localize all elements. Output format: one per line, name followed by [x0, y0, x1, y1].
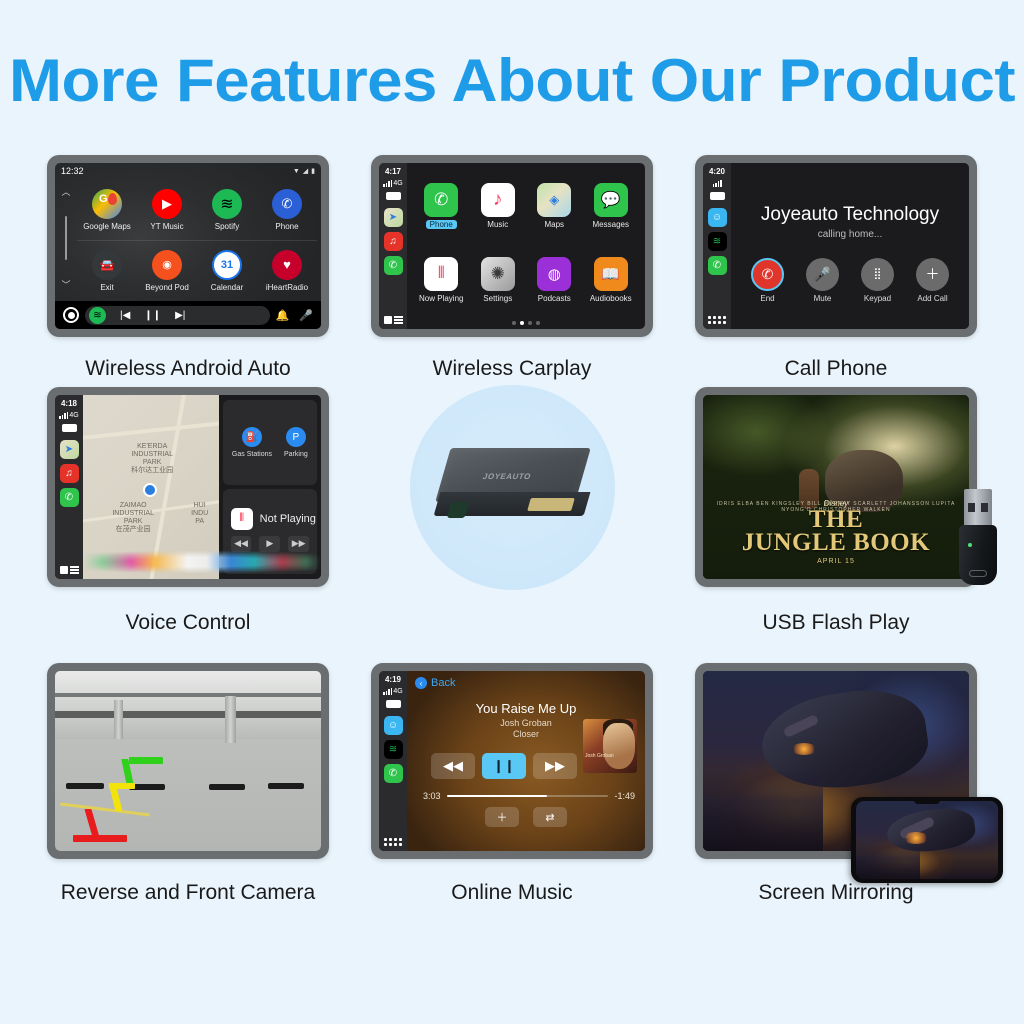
app-podcasts[interactable]: ◍ Podcasts: [526, 243, 583, 317]
app-label: iHeartRadio: [266, 283, 308, 292]
maps-icon[interactable]: ☺: [384, 716, 403, 735]
elapsed-time-label: 3:03: [423, 791, 441, 801]
carplay-home-screen[interactable]: 4:17 4G ➤ ♫ ✆: [379, 163, 645, 329]
app-google-maps[interactable]: G Google Maps: [77, 179, 137, 240]
caller-name: Joyeauto Technology: [761, 204, 939, 226]
phone-notch: [914, 799, 940, 804]
ceiling-beam: [55, 711, 321, 718]
app-label: Audiobooks: [590, 294, 632, 303]
map-road: [83, 419, 219, 441]
beyondpod-icon: ◉: [152, 250, 182, 280]
usb-connector: [964, 489, 992, 529]
jungle-book-poster: IDRIS ELBA BEN KINGSLEY BILL MURRAY SCAR…: [703, 395, 969, 579]
spotify-icon[interactable]: ≋: [89, 307, 106, 324]
feature-cell-reverse-front-camera: Reverse and Front Camera: [26, 663, 350, 923]
city-silhouette: [856, 843, 920, 879]
end-call-button[interactable]: ✆ End: [751, 258, 784, 303]
voice-control-content: KE'ERDA INDUSTRIAL PARK 科尔达工业园 ZAIMAO IN…: [83, 395, 321, 579]
glow-effect: [791, 743, 817, 755]
netease-music-icon[interactable]: ♫: [60, 464, 79, 483]
product-module: JOYEAUTO: [437, 448, 587, 526]
app-label: Calendar: [211, 283, 243, 292]
carplay-call-screen[interactable]: 4:20 ☺ ≋ ✆ Joyeauto Technology: [703, 163, 969, 329]
feature-cell-wireless-carplay: 4:17 4G ➤ ♫ ✆: [350, 155, 674, 387]
dashboard-icon[interactable]: [60, 566, 79, 574]
city-silhouette: [703, 768, 823, 851]
extra-controls: ＋ ⇄: [407, 807, 645, 827]
remaining-time-label: -1:49: [614, 791, 635, 801]
poi-parking[interactable]: P Parking: [284, 427, 308, 458]
netease-music-icon[interactable]: ♫: [384, 232, 403, 251]
end-call-icon: ✆: [751, 258, 784, 291]
app-beyond-pod[interactable]: ◉ Beyond Pod: [137, 240, 197, 301]
signal-indicator: 4G: [383, 688, 402, 695]
pause-icon[interactable]: ❙❙: [144, 310, 161, 321]
spotify-icon: ≋: [212, 189, 242, 219]
poi-card: ⛽ Gas Stations P Parking: [223, 400, 317, 485]
scroll-thumb[interactable]: [65, 216, 67, 260]
chevron-down-icon[interactable]: ﹀: [61, 278, 70, 291]
chevron-left-icon: ‹: [415, 677, 427, 689]
messages-icon: 💬: [594, 183, 628, 217]
app-messages[interactable]: 💬 Messages: [583, 169, 640, 243]
row-divider: [77, 240, 317, 241]
feature-caption: Online Music: [451, 881, 572, 905]
poi-label: Parking: [284, 451, 308, 458]
back-label: Back: [431, 677, 455, 689]
grid-icon[interactable]: [708, 316, 726, 324]
spotify-icon[interactable]: ≋: [384, 740, 403, 759]
feature-cell-online-music: 4:19 4G ☺ ≋ ✆: [350, 663, 674, 923]
media-pill[interactable]: ≋ |◀ ❙❙ ▶|: [85, 306, 270, 325]
carplay-app-area: ✆ Phone ♪ Music ◈ Maps: [407, 163, 645, 329]
app-label: Beyond Pod: [145, 283, 189, 292]
cover-face: [603, 723, 635, 769]
add-call-icon: ＋: [916, 258, 949, 291]
clock-label: 12:32: [61, 166, 84, 176]
app-label: Phone: [426, 220, 457, 229]
now-playing-content: ‹ Back You Raise Me Up Josh Groban Close…: [407, 671, 645, 851]
dashboard-icon[interactable]: [384, 316, 403, 324]
wifi-icon: ▼: [293, 168, 300, 175]
carplay-sidebar: 4:20 ☺ ≋ ✆: [703, 163, 731, 329]
car-display-device: 4:20 ☺ ≋ ✆ Joyeauto Technology: [695, 155, 977, 337]
next-track-icon[interactable]: ▶|: [175, 310, 185, 321]
now-playing-label: Not Playing: [260, 513, 316, 525]
feature-caption: Wireless Carplay: [433, 357, 592, 381]
feature-cell-voice-control: 4:18 4G ➤ ♫ ✆: [26, 387, 350, 663]
battery-icon: [62, 424, 77, 432]
signal-icon: [383, 688, 392, 695]
cover-artist-tag: Josh Groban: [585, 753, 614, 759]
phone-icon[interactable]: ✆: [384, 764, 403, 783]
car-display-device: [47, 663, 329, 859]
carplay-now-playing-screen[interactable]: 4:19 4G ☺ ≋ ✆: [379, 671, 645, 851]
call-status: calling home...: [818, 229, 882, 240]
app-audiobooks[interactable]: 📖 Audiobooks: [583, 243, 640, 317]
maps-icon[interactable]: ➤: [384, 208, 403, 227]
product-feature-poster: More Features About Our Product 12:32 ▼ …: [0, 0, 1024, 1024]
product-photo: JOYEAUTO: [371, 387, 653, 587]
car-display-device: IDRIS ELBA BEN KINGSLEY BILL MURRAY SCAR…: [695, 387, 977, 587]
button-label: Mute: [814, 294, 832, 303]
keypad-button[interactable]: ⣿ Keypad: [861, 258, 894, 303]
app-music[interactable]: ♪ Music: [470, 169, 527, 243]
scroll-rail[interactable]: ︿ ﹀: [55, 179, 77, 301]
clock-label: 4:17: [385, 167, 401, 176]
garage-column: [225, 696, 236, 743]
fast-forward-icon[interactable]: ▶▶: [533, 753, 577, 779]
reverse-camera-screen[interactable]: [55, 671, 321, 851]
now-playing-icon: ⦀: [424, 257, 458, 291]
app-label: YT Music: [150, 222, 183, 231]
usb-body: [959, 525, 997, 585]
feature-cell-wireless-android-auto: 12:32 ▼ ◢ ▮ ︿ ﹀: [26, 155, 350, 387]
progress-bar[interactable]: [447, 795, 609, 797]
app-exit[interactable]: 🚘 Exit: [77, 240, 137, 301]
microphone-icon[interactable]: 🎤: [299, 309, 313, 322]
chevron-up-icon[interactable]: ︿: [61, 185, 70, 198]
feature-cell-screen-mirroring: Screen Mirroring: [674, 663, 998, 923]
google-assistant-icon[interactable]: [63, 307, 79, 323]
youtube-music-icon: ▶: [152, 189, 182, 219]
maps-icon[interactable]: ➤: [60, 440, 79, 459]
app-yt-music[interactable]: ▶ YT Music: [137, 179, 197, 240]
app-label: Podcasts: [538, 294, 571, 303]
carplay-sidebar: 4:19 4G ☺ ≋ ✆: [379, 671, 407, 851]
feature-caption: Voice Control: [126, 611, 251, 635]
release-date-label: APRIL 15: [703, 558, 969, 565]
app-label: Phone: [275, 222, 298, 231]
network-label: 4G: [393, 180, 402, 187]
signal-icon: [383, 180, 392, 187]
mirrored-phone: [851, 797, 1003, 883]
playback-controls: ◀◀ ❙❙ ▶▶: [431, 753, 577, 779]
android-auto-app-area: ︿ ﹀ G Google Maps: [55, 179, 321, 301]
now-playing-row: ⦀ Not Playing: [223, 508, 317, 530]
map-label: ZAIMAO INDUSTRIAL PARK 在茂产业园: [91, 502, 175, 534]
app-spotify[interactable]: ≋ Spotify: [197, 179, 257, 240]
brand-label: JOYEAUTO: [482, 472, 532, 481]
music-note-icon: ♪: [481, 183, 515, 217]
garage-ceiling: [55, 671, 321, 739]
phone-icon: ✆: [272, 189, 302, 219]
app-phone[interactable]: ✆ Phone: [413, 169, 470, 243]
app-label: Music: [487, 220, 508, 229]
gas-station-icon: ⛽: [242, 427, 262, 447]
shuffle-repeat-icon[interactable]: ⇄: [533, 807, 567, 827]
podcasts-icon: ◍: [537, 257, 571, 291]
previous-track-icon[interactable]: |◀: [120, 310, 130, 321]
game-artwork-mirrored: [856, 801, 998, 879]
siri-waveform: [83, 549, 321, 575]
map-label: KE'ERDA INDUSTRIAL PARK 科尔达工业园: [107, 443, 197, 475]
spotify-icon[interactable]: ≋: [708, 232, 727, 251]
carplay-sidebar: 4:18 4G ➤ ♫ ✆: [55, 395, 83, 579]
page-indicator[interactable]: [407, 321, 645, 325]
android-auto-status-bar: 12:32 ▼ ◢ ▮: [55, 163, 321, 179]
call-controls: ✆ End 🎤 Mute ⣿ Keypad: [751, 258, 949, 303]
car-display-device: 4:18 4G ➤ ♫ ✆: [47, 387, 329, 587]
car-display-device: 4:17 4G ➤ ♫ ✆: [371, 155, 653, 337]
feature-cell-product-box: JOYEAUTO: [350, 387, 674, 663]
feature-caption: USB Flash Play: [762, 611, 909, 635]
apple-maps-icon: ◈: [537, 183, 571, 217]
voice-control-screen[interactable]: 4:18 4G ➤ ♫ ✆: [55, 395, 321, 579]
app-label: Settings: [483, 294, 512, 303]
feature-caption: Call Phone: [785, 357, 888, 381]
button-label: End: [760, 294, 774, 303]
current-location-dot: [143, 483, 157, 497]
feature-caption: Screen Mirroring: [758, 881, 913, 905]
signal-icon: [713, 180, 722, 187]
settings-gear-icon: ✺: [481, 257, 515, 291]
car-display-device: 12:32 ▼ ◢ ▮ ︿ ﹀: [47, 155, 329, 337]
album-art: Josh Groban: [583, 719, 637, 773]
parking-icon: P: [286, 427, 306, 447]
grid-icon[interactable]: [384, 838, 402, 846]
app-label: Google Maps: [83, 222, 131, 231]
app-maps[interactable]: ◈ Maps: [526, 169, 583, 243]
battery-icon: [386, 700, 401, 708]
android-auto-bottom-bar: ≋ |◀ ❙❙ ▶| 🔔 🎤: [55, 301, 321, 329]
signal-indicator: 4G: [59, 412, 78, 419]
signal-indicator: 4G: [383, 180, 402, 187]
app-label: Now Playing: [419, 294, 463, 303]
video-player-screen[interactable]: IDRIS ELBA BEN KINGSLEY BILL MURRAY SCAR…: [703, 395, 969, 579]
calendar-icon: 31: [212, 250, 242, 280]
battery-icon: [710, 192, 725, 200]
network-label: 4G: [393, 688, 402, 695]
feature-grid: 12:32 ▼ ◢ ▮ ︿ ﹀: [26, 155, 998, 995]
track-title: You Raise Me Up: [407, 701, 645, 716]
mute-button[interactable]: 🎤 Mute: [806, 258, 839, 303]
poi-label: Gas Stations: [232, 451, 272, 458]
movie-title-line1: THE: [703, 508, 969, 532]
app-calendar[interactable]: 31 Calendar: [197, 240, 257, 301]
ceiling-beam: [55, 693, 321, 697]
button-label: Add Call: [917, 294, 947, 303]
battery-icon: ▮: [311, 167, 315, 175]
phone-screen: [856, 801, 998, 879]
poi-gas-stations[interactable]: ⛽ Gas Stations: [232, 427, 272, 458]
lane-line: [60, 802, 150, 816]
app-label: Messages: [593, 220, 629, 229]
keypad-icon: ⣿: [861, 258, 894, 291]
wheel-stop: [268, 783, 304, 789]
bell-icon[interactable]: 🔔: [276, 309, 290, 322]
phone-icon[interactable]: ✆: [708, 256, 727, 275]
map-label: HUI INDU PA: [181, 502, 219, 526]
iheartradio-icon: ♥: [272, 250, 302, 280]
android-auto-screen[interactable]: 12:32 ▼ ◢ ▮ ︿ ﹀: [55, 163, 321, 329]
movie-title-line2: JUNGLE BOOK: [703, 531, 969, 555]
signal-icon: [59, 412, 68, 419]
garage-column: [114, 700, 123, 740]
phone-icon[interactable]: ✆: [60, 488, 79, 507]
button-label: Keypad: [864, 294, 891, 303]
phone-icon: ✆: [424, 183, 458, 217]
add-icon[interactable]: ＋: [485, 807, 519, 827]
app-settings[interactable]: ✺ Settings: [470, 243, 527, 317]
page-title: More Features About Our Product: [0, 46, 1024, 115]
maps-icon[interactable]: ☺: [708, 208, 727, 227]
battery-icon: [386, 192, 401, 200]
audiobooks-icon: 📖: [594, 257, 628, 291]
network-label: 4G: [69, 412, 78, 419]
feature-cell-usb-flash-play: IDRIS ELBA BEN KINGSLEY BILL MURRAY SCAR…: [674, 387, 998, 663]
now-playing-icon: ⦀: [231, 508, 253, 530]
poster-logo: Disney THE JUNGLE BOOK APRIL 15: [703, 499, 969, 566]
add-call-button[interactable]: ＋ Add Call: [916, 258, 949, 303]
carplay-app-grid: ✆ Phone ♪ Music ◈ Maps: [407, 163, 645, 329]
google-maps-icon: G: [92, 189, 122, 219]
progress-row: 3:03 -1:49: [423, 791, 635, 801]
app-label: Spotify: [215, 222, 239, 231]
feature-caption: Wireless Android Auto: [85, 357, 290, 381]
connector-port: [527, 498, 575, 511]
clock-label: 4:18: [61, 399, 77, 408]
feature-cell-call-phone: 4:20 ☺ ≋ ✆ Joyeauto Technology: [674, 155, 998, 387]
car-display-device: [695, 663, 977, 859]
clock-label: 4:20: [709, 167, 725, 176]
wheel-stop: [66, 783, 104, 789]
wheel-stop: [209, 784, 245, 790]
rewind-icon[interactable]: ◀◀: [431, 753, 475, 779]
call-content: Joyeauto Technology calling home... ✆ En…: [731, 163, 969, 329]
usb-flash-drive-icon: [959, 489, 997, 585]
car-display-device: 4:19 4G ☺ ≋ ✆: [371, 663, 653, 859]
camera-feed: [55, 671, 321, 851]
usb-lanyard-slot: [969, 570, 987, 577]
app-label: Maps: [544, 220, 564, 229]
clock-label: 4:19: [385, 675, 401, 684]
usb-led-icon: [968, 543, 972, 547]
app-now-playing[interactable]: ⦀ Now Playing: [413, 243, 470, 317]
mute-microphone-icon: 🎤: [806, 258, 839, 291]
app-iheartradio[interactable]: ♥ iHeartRadio: [257, 240, 317, 301]
signal-icon: ◢: [303, 167, 308, 175]
status-icons: ▼ ◢ ▮: [293, 167, 315, 175]
back-button[interactable]: ‹ Back: [415, 677, 455, 689]
phone-icon[interactable]: ✆: [384, 256, 403, 275]
app-phone[interactable]: ✆ Phone: [257, 179, 317, 240]
feature-caption: Reverse and Front Camera: [61, 881, 315, 905]
car-exit-icon: 🚘: [92, 250, 122, 280]
pause-icon[interactable]: ❙❙: [482, 753, 526, 779]
carplay-sidebar: 4:17 4G ➤ ♫ ✆: [379, 163, 407, 329]
app-label: Exit: [100, 283, 113, 292]
